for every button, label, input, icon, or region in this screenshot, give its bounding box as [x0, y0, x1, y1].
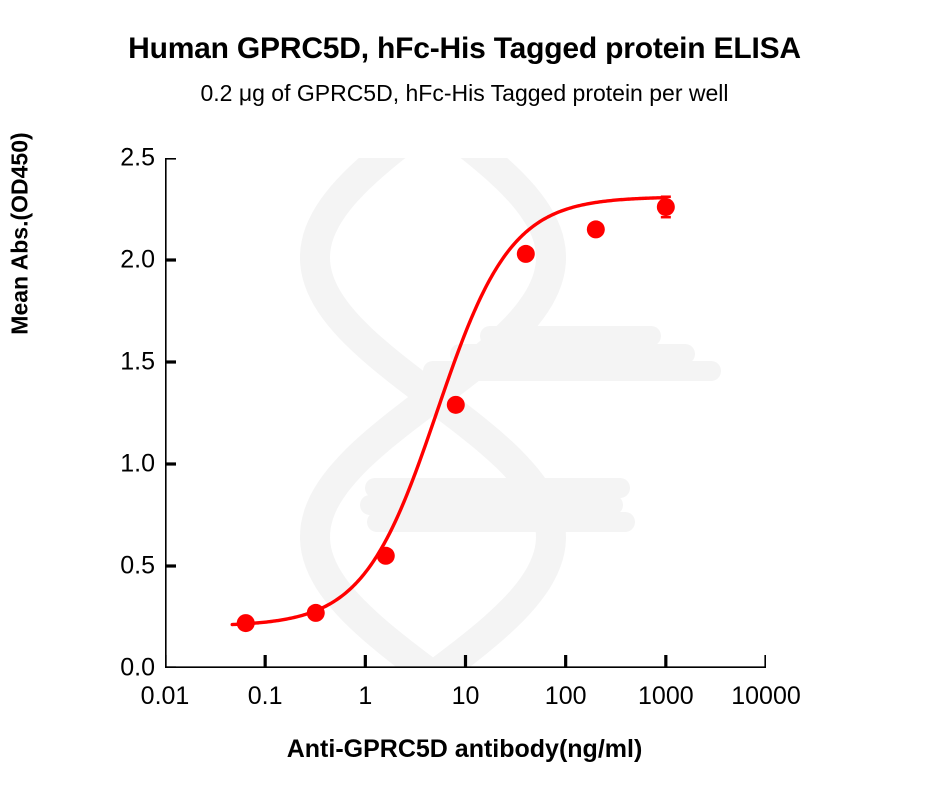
y-tick-label-0: 0.0	[45, 654, 155, 683]
y-axis-tick-labels: 0.00.51.01.52.02.5	[40, 158, 155, 668]
chart-title: Human GPRC5D, hFc-His Tagged protein ELI…	[0, 32, 929, 66]
x-axis-tick-labels: 0.010.1110100100010000	[165, 682, 766, 722]
data-point-3	[447, 396, 465, 414]
x-tick-label-3: 10	[452, 682, 480, 711]
y-tick-label-5: 2.5	[45, 144, 155, 173]
x-tick-label-0: 0.01	[141, 682, 190, 711]
x-tick-label-2: 1	[358, 682, 372, 711]
dna-helix-watermark	[315, 158, 711, 668]
plot-area	[165, 158, 766, 668]
data-point-0	[237, 614, 255, 632]
y-axis-title: Mean Abs.(OD450)	[7, 4, 34, 464]
data-point-4	[517, 245, 535, 263]
y-tick-label-1: 0.5	[45, 552, 155, 581]
data-point-5	[587, 220, 605, 238]
y-tick-label-4: 2.0	[45, 246, 155, 275]
y-tick-label-3: 1.5	[45, 348, 155, 377]
x-axis-title: Anti-GPRC5D antibody(ng/ml)	[0, 735, 929, 764]
chart-subtitle: 0.2 μg of GPRC5D, hFc-His Tagged protein…	[0, 80, 929, 107]
data-point-1	[307, 604, 325, 622]
x-tick-label-1: 0.1	[248, 682, 283, 711]
x-tick-label-4: 100	[545, 682, 587, 711]
x-tick-label-5: 1000	[638, 682, 694, 711]
y-tick-label-2: 1.0	[45, 450, 155, 479]
x-tick-label-6: 10000	[731, 682, 801, 711]
plot-canvas	[165, 158, 766, 668]
data-point-2	[377, 547, 395, 565]
data-point-6	[657, 198, 675, 216]
elisa-chart-figure: Human GPRC5D, hFc-His Tagged protein ELI…	[0, 0, 929, 800]
